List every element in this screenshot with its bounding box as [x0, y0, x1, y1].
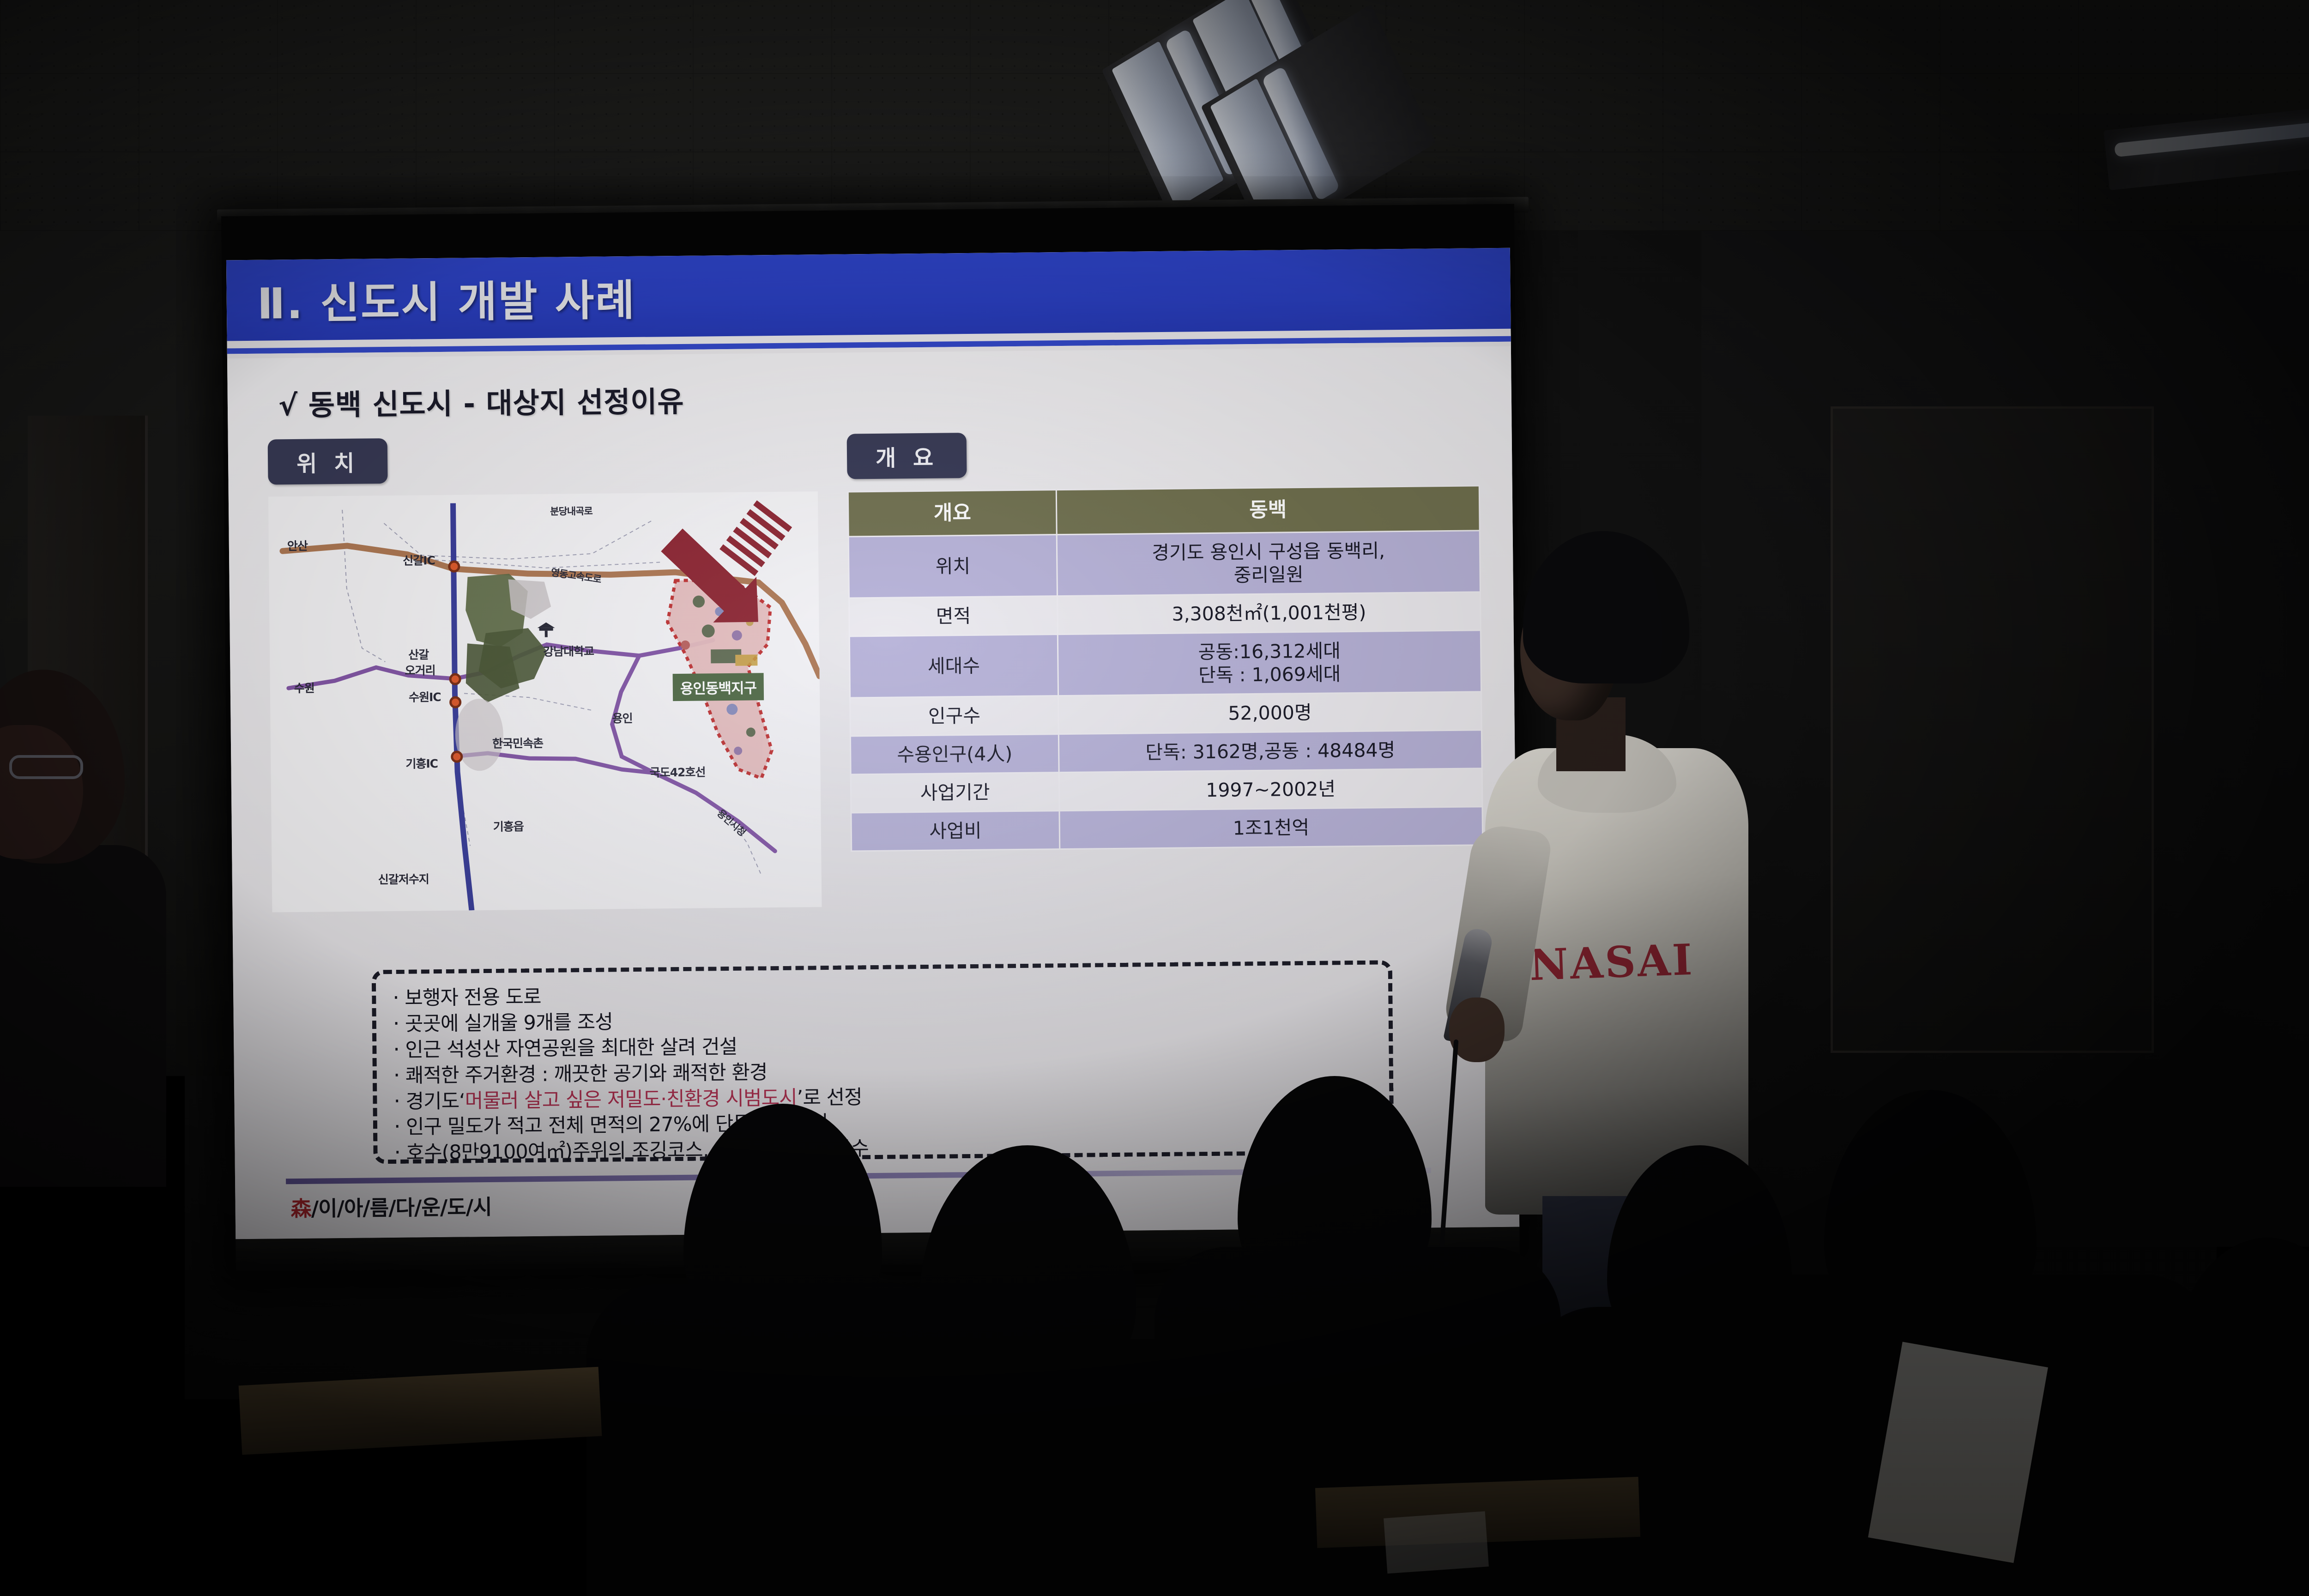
overview-table: 개요 동백 위치 경기도 용인시 구성읍 동백리,중리일원: [847, 485, 1483, 852]
map-label: 오거리: [405, 661, 435, 678]
map-node-giheung-ic: [451, 751, 463, 763]
footer-brand: 森/이/아/름/다/운/도/시: [290, 1190, 491, 1222]
map-label: 신갈IC: [403, 551, 435, 568]
table-cell-key: 위치: [848, 534, 1057, 598]
table-cell-value: 단독: 3162명,공동 : 48484명: [1058, 730, 1482, 773]
map-node-sangal-5way: [449, 673, 461, 685]
table-body: 위치 경기도 용인시 구성읍 동백리,중리일원 면적 3,308천㎡(1,001…: [848, 531, 1482, 851]
hoodie-logo-text: NASAI: [1514, 934, 1710, 991]
presenter-hair: [1523, 531, 1689, 683]
notes-box: 보행자 전용 도로 곳곳에 실개울 9개를 조성 인근 석성산 자연공원을 최대…: [372, 960, 1394, 1164]
table-cell-key: 면적: [849, 596, 1058, 636]
table-col-header-value: 동백: [1056, 486, 1480, 534]
map-node-suwon-ic: [449, 696, 461, 708]
map-label: 산갈: [408, 646, 429, 662]
table-row: 위치 경기도 용인시 구성읍 동백리,중리일원: [848, 531, 1480, 598]
table-cell-value: 52,000명: [1058, 692, 1482, 734]
table-row: 인구수 52,000명: [850, 692, 1482, 736]
slide-title-bar: Ⅱ. 신도시 개발 사례: [226, 248, 1511, 341]
note-text: 곳곳에 실개울 9개를 조성: [405, 1010, 613, 1035]
map-label: 기흥읍: [493, 817, 524, 834]
table-cell-value: 경기도 용인시 구성읍 동백리,중리일원: [1057, 531, 1480, 596]
note-text: 보행자 전용 도로: [405, 985, 541, 1010]
table-row: 사업기간 1997~2002년: [851, 768, 1482, 813]
map-graphic: [268, 491, 822, 912]
map-label: 수원IC: [409, 688, 441, 705]
audience-left-body: [0, 845, 166, 1187]
map-label: 분당내곡로: [550, 504, 592, 518]
footer-text: /이/아/름/다/운/도/시: [311, 1195, 491, 1221]
lecture-room-scene: Ⅱ. 신도시 개발 사례 √ 동백 신도시 - 대상지 선정이유 위 치: [0, 0, 2309, 1596]
audience-member-left: [0, 670, 199, 1178]
location-map: 용인동백지구 안산 신갈IC 분당내곡로 영동고속도로 강남대학교 산갈 오거리…: [268, 491, 822, 912]
audience-body: [2069, 1404, 2309, 1596]
note-text: 쾌적한 주거환경 : 깨끗한 공기와 쾌적한 환경: [405, 1061, 768, 1088]
page-title: Ⅱ. 신도시 개발 사례: [257, 266, 636, 331]
table-cell-value: 공동:16,312세대단독 : 1,069세대: [1058, 630, 1481, 696]
note-text: 인근 석성산 자연공원을 최대한 살려 건설: [405, 1035, 737, 1062]
table-cell-key: 사업기간: [851, 772, 1059, 812]
eyeglasses-icon: [9, 755, 83, 779]
note-text: 경기도‘: [405, 1089, 465, 1113]
map-label: 수원: [294, 679, 314, 696]
map-label: 강남대학교: [543, 642, 594, 659]
table-head: 개요 동백: [848, 486, 1480, 537]
map-label: 신갈저수지: [378, 870, 429, 887]
table-col-header-key: 개요: [848, 490, 1057, 537]
note-text-highlight: 머물러 살고 싶은 저밀도·친환경 시범도시: [465, 1086, 797, 1112]
map-label: 용인: [612, 709, 632, 726]
table-row: 사업비 1조1천억: [851, 807, 1483, 851]
location-pill-label: 위 치: [268, 438, 388, 484]
map-label: 한국민속촌: [492, 734, 543, 751]
table-cell-key: 인구수: [850, 695, 1059, 736]
table-cell-value: 1조1천억: [1059, 807, 1483, 849]
note-text-suffix: ’로 선정: [797, 1086, 862, 1109]
map-label: 국도42호선: [649, 763, 705, 780]
table-cell-value: 1997~2002년: [1059, 768, 1482, 811]
table-cell-key: 세대수: [849, 634, 1058, 697]
table-row: 수용인구(4人) 단독: 3162명,공동 : 48484명: [850, 730, 1482, 774]
handout-paper: [1384, 1511, 1489, 1573]
table-cell-key: 수용인구(4人): [850, 734, 1059, 774]
table-row: 세대수 공동:16,312세대단독 : 1,069세대: [849, 630, 1481, 698]
table-row: 면적 3,308천㎡(1,001천평): [849, 592, 1481, 636]
overview-pill-label: 개 요: [847, 433, 967, 479]
map-badge-dongbaek: 용인동백지구: [673, 673, 764, 701]
table-cell-key: 사업비: [851, 810, 1060, 851]
wall-panel-right: [1831, 406, 2154, 1053]
map-label: 안산: [287, 537, 308, 554]
table-cell-value: 3,308천㎡(1,001천평): [1058, 592, 1481, 635]
map-node-singal-ic: [448, 561, 460, 573]
table-header-row: 개요 동백: [848, 486, 1480, 537]
mori-logo-icon: 森: [290, 1197, 311, 1221]
map-label: 기흥IC: [405, 755, 438, 772]
